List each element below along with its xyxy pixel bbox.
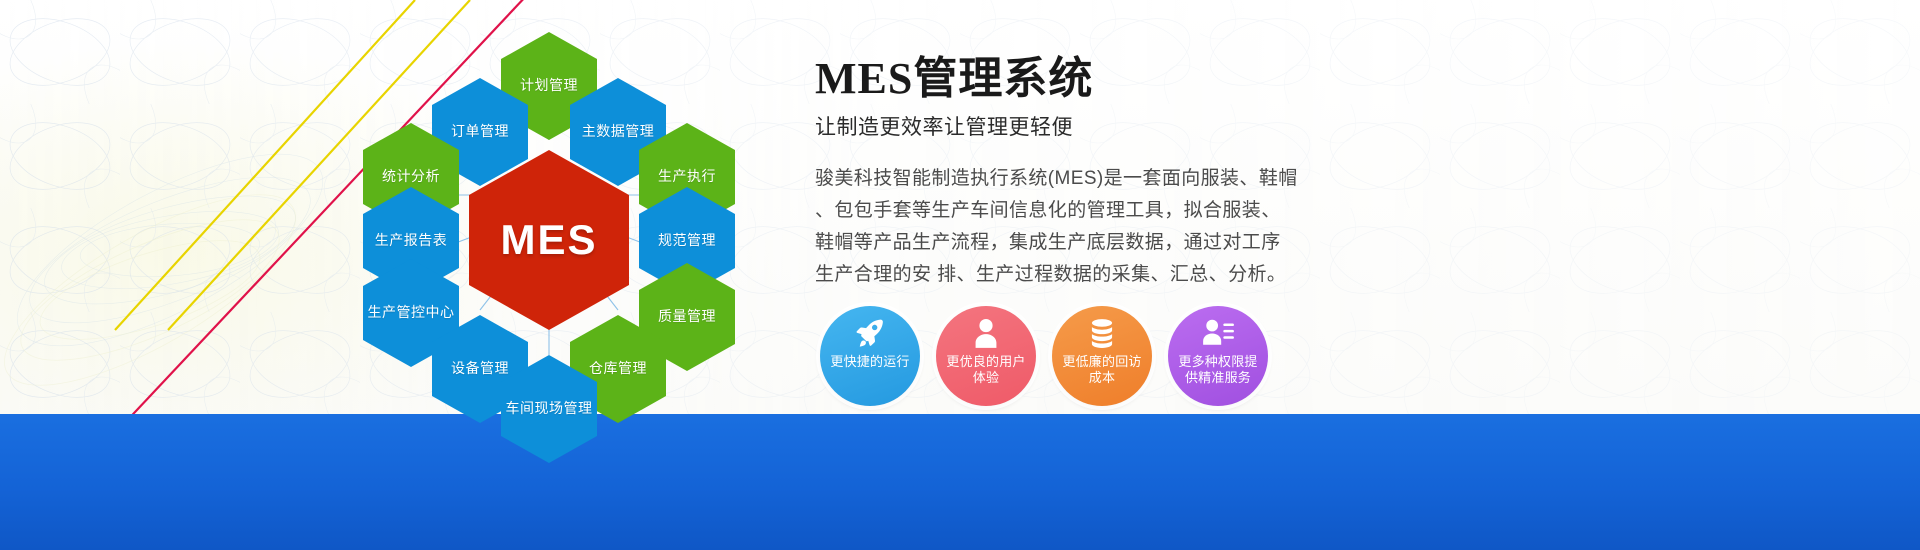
background-bottom-band <box>0 414 1920 550</box>
description-line: 鞋帽等产品生产流程，集成生产底层数据，通过对工序 <box>815 227 1515 259</box>
user-icon <box>969 316 1003 350</box>
page-subtitle: 让制造更效率让管理更轻便 <box>815 111 1515 141</box>
feature-badge-0[interactable]: 更快捷的运行 <box>820 306 920 406</box>
diagram-node-label: 计划管理 <box>516 77 582 95</box>
diagram-node-label: 订单管理 <box>447 123 513 141</box>
page-title: MES管理系统 <box>815 55 1515 103</box>
diagram-node-label: 质量管理 <box>654 308 720 326</box>
diagram-node-label: 统计分析 <box>378 168 444 186</box>
description-line: 、包包手套等生产车间信息化的管理工具，拟合服装、 <box>815 195 1515 227</box>
feature-badge-3[interactable]: 更多种权限提供精准服务 <box>1168 306 1268 406</box>
diagram-node-label: 生产管控中心 <box>364 304 459 322</box>
feature-badge-1[interactable]: 更优良的用户体验 <box>936 306 1036 406</box>
description-paragraph: 骏美科技智能制造执行系统(MES)是一套面向服装、鞋帽 、包包手套等生产车间信息… <box>815 163 1515 291</box>
diagram-node-label: 规范管理 <box>654 232 720 250</box>
hero-banner: MES 计划管理 订单管理 主数据管理 统计分析 生产执行 生产报告表 规范管理… <box>0 0 1920 550</box>
hero-text-column: MES管理系统 让制造更效率让管理更轻便 骏美科技智能制造执行系统(MES)是一… <box>815 55 1515 291</box>
description-line: 骏美科技智能制造执行系统(MES)是一套面向服装、鞋帽 <box>815 163 1515 195</box>
feature-badge-label: 更优良的用户体验 <box>940 354 1032 386</box>
feature-badge-2[interactable]: 更低廉的回访成本 <box>1052 306 1152 406</box>
feature-badge-label: 更多种权限提供精准服务 <box>1172 354 1264 386</box>
description-line: 生产合理的安 排、生产过程数据的采集、汇总、分析。 <box>815 259 1515 291</box>
diagram-center-label: MES <box>496 214 601 267</box>
diagram-node-label: 设备管理 <box>447 360 513 378</box>
diagram-node-label: 仓库管理 <box>585 360 651 378</box>
rocket-icon <box>853 316 887 350</box>
diagram-node-label: 车间现场管理 <box>502 400 597 418</box>
feature-badge-label: 更低廉的回访成本 <box>1056 354 1148 386</box>
mes-module-diagram: MES 计划管理 订单管理 主数据管理 统计分析 生产执行 生产报告表 规范管理… <box>330 10 800 430</box>
feature-badge-list: 更快捷的运行 更优良的用户体验 更低廉的回访成本 <box>820 306 1268 406</box>
coins-icon <box>1085 316 1119 350</box>
feature-badge-label: 更快捷的运行 <box>824 354 916 370</box>
diagram-node-label: 生产报告表 <box>371 232 452 250</box>
user-list-icon <box>1201 316 1235 350</box>
diagram-node-label: 主数据管理 <box>578 123 659 141</box>
diagram-node-label: 生产执行 <box>654 168 720 186</box>
